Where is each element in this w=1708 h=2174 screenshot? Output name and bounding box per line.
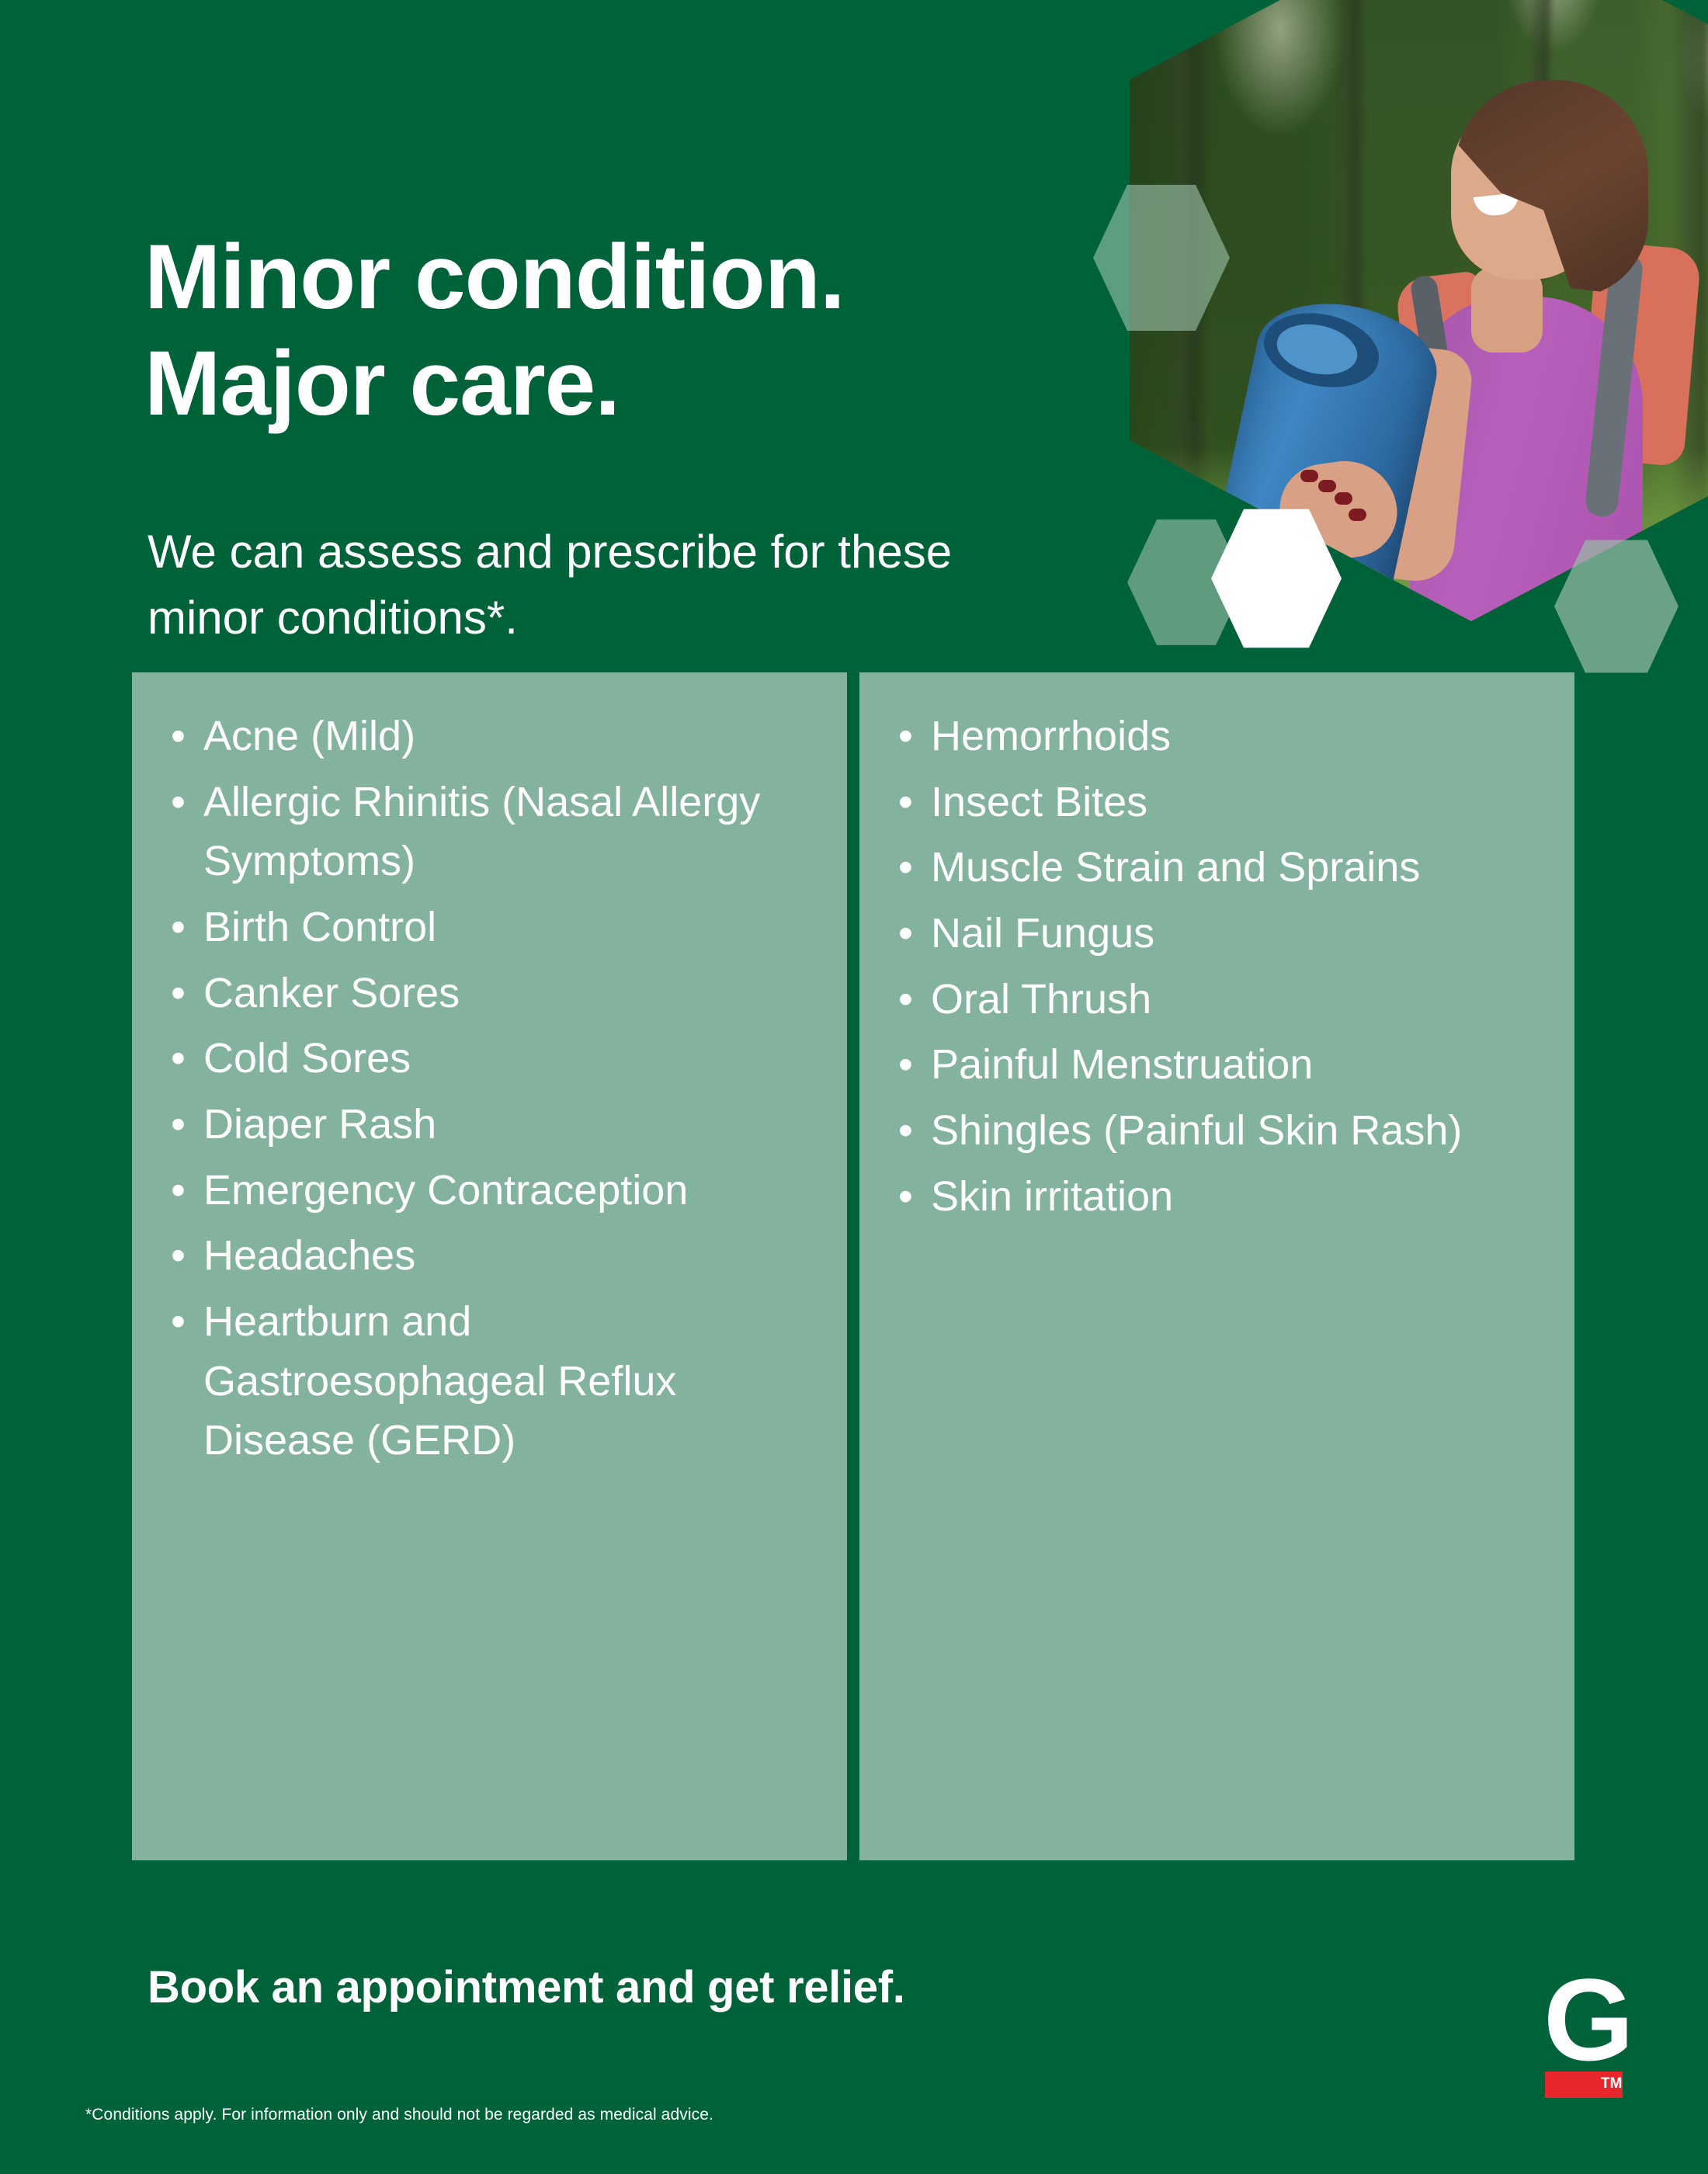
brand-logo: G TM bbox=[1543, 1972, 1646, 2109]
conditions-list-left: Acne (Mild)Allergic Rhinitis (Nasal Alle… bbox=[160, 707, 819, 1471]
conditions-panels: Acne (Mild)Allergic Rhinitis (Nasal Alle… bbox=[132, 672, 1574, 1860]
headline-line-1: Minor condition. bbox=[144, 226, 845, 328]
condition-list-item: Heartburn and Gastroesophageal Reflux Di… bbox=[160, 1292, 819, 1471]
conditions-panel-left: Acne (Mild)Allergic Rhinitis (Nasal Alle… bbox=[132, 672, 847, 1860]
condition-list-item: Insect Bites bbox=[887, 773, 1547, 832]
condition-list-item: Nail Fungus bbox=[887, 904, 1547, 964]
woman-neck bbox=[1471, 267, 1543, 352]
condition-list-item: Canker Sores bbox=[160, 964, 819, 1023]
condition-list-item: Shingles (Painful Skin Rash) bbox=[887, 1101, 1547, 1161]
condition-list-item: Hemorrhoids bbox=[887, 707, 1547, 766]
conditions-panel-right: HemorrhoidsInsect BitesMuscle Strain and… bbox=[859, 672, 1574, 1860]
condition-list-item: Birth Control bbox=[160, 898, 819, 957]
logo-trademark-symbol: TM bbox=[1601, 2076, 1622, 2091]
fingernail bbox=[1335, 492, 1352, 505]
condition-list-item: Headaches bbox=[160, 1226, 819, 1286]
fingernail bbox=[1318, 480, 1336, 492]
page-title: Minor condition. Major care. bbox=[144, 224, 1115, 437]
condition-list-item: Acne (Mild) bbox=[160, 707, 819, 766]
subheading: We can assess and prescribe for these mi… bbox=[148, 519, 1071, 651]
condition-list-item: Diaper Rash bbox=[160, 1095, 819, 1155]
condition-list-item: Cold Sores bbox=[160, 1029, 819, 1089]
fingernail bbox=[1300, 470, 1318, 482]
headline-line-2: Major care. bbox=[144, 331, 1115, 437]
fingernail bbox=[1349, 509, 1366, 521]
call-to-action-text: Book an appointment and get relief. bbox=[148, 1961, 905, 2013]
poster-root: Minor condition. Major care. We can asse… bbox=[0, 0, 1708, 2174]
condition-list-item: Allergic Rhinitis (Nasal Allergy Symptom… bbox=[160, 773, 819, 891]
condition-list-item: Painful Menstruation bbox=[887, 1035, 1547, 1095]
condition-list-item: Oral Thrush bbox=[887, 970, 1547, 1030]
condition-list-item: Emergency Contraception bbox=[160, 1161, 819, 1221]
condition-list-item: Skin irritation bbox=[887, 1167, 1547, 1227]
conditions-list-right: HemorrhoidsInsect BitesMuscle Strain and… bbox=[887, 707, 1547, 1226]
logo-letter-g: G bbox=[1543, 1972, 1634, 2068]
disclaimer-text: *Conditions apply. For information only … bbox=[85, 2106, 713, 2124]
condition-list-item: Muscle Strain and Sprains bbox=[887, 838, 1547, 898]
